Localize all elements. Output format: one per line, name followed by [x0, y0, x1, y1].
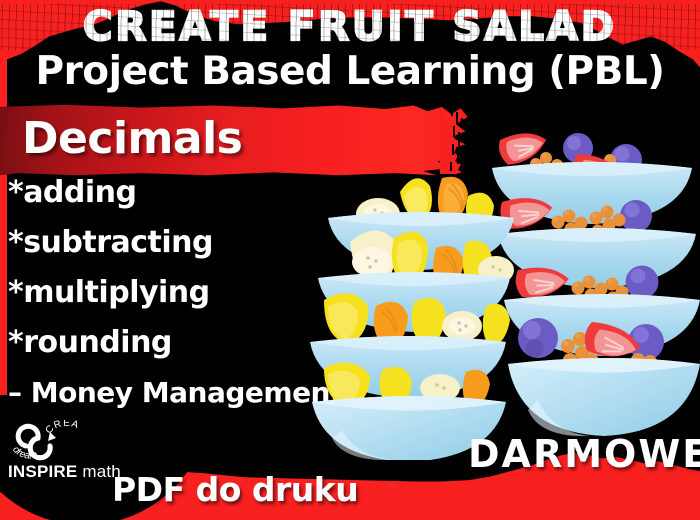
- headline-create-fruit-salad: CREATE FRUIT SALAD: [0, 4, 700, 50]
- logo-brand-main: INSPIRE: [8, 462, 77, 481]
- headline-project-based-learning: Project Based Learning (PBL): [0, 48, 700, 96]
- footer-pdf-label: PDF do druku: [112, 470, 358, 509]
- topic-banner-label: Decimals: [22, 108, 242, 170]
- footer-darmowe-label: DARMOWE: [468, 432, 700, 476]
- headline-create-text: CREATE FRUIT SALAD: [83, 4, 617, 50]
- poster-canvas: CREATE FRUIT SALAD Project Based Learnin…: [0, 0, 700, 520]
- fruit-bowls-illustration: [290, 130, 700, 460]
- logo-wordmark: INSPIRE math: [8, 462, 121, 482]
- brand-logo[interactable]: dream CREATE INSPIRE math: [6, 420, 126, 486]
- infinity-icon: dream CREATE: [6, 420, 126, 464]
